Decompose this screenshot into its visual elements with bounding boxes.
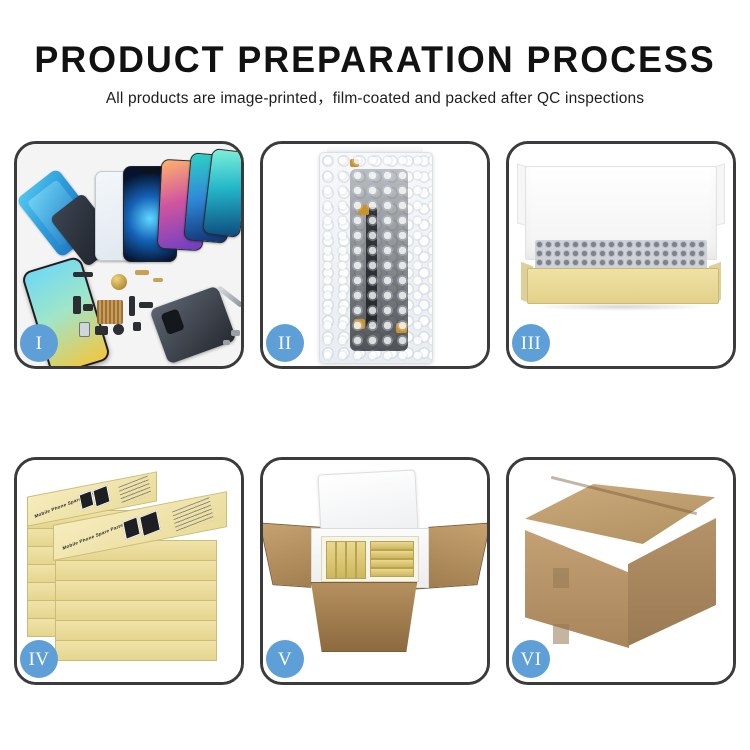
spare-part-icon — [223, 340, 230, 345]
box-tray-icon — [527, 268, 719, 304]
connector-icon — [358, 205, 369, 215]
box-label-text: Mobile Phone Spare Parts — [62, 523, 123, 551]
spare-part-icon — [73, 272, 93, 277]
flex-cable-icon — [366, 207, 377, 327]
process-infographic: PRODUCT PREPARATION PROCESS All products… — [0, 0, 750, 750]
label-screen-icon — [92, 485, 110, 508]
step-badge-4: IV — [20, 640, 58, 678]
label-screen-icon — [122, 516, 140, 540]
foam-padding-icon — [535, 240, 707, 270]
process-step-4: Mobile Phone Spare Parts — [14, 457, 244, 685]
drop-shadow-icon — [533, 304, 711, 311]
process-step-3: III — [506, 141, 736, 369]
foam-case-lid-icon — [317, 469, 418, 536]
carton-tape-icon — [553, 568, 569, 588]
step-badge-2: II — [266, 324, 304, 362]
stacked-box-icon — [55, 600, 217, 621]
spare-part-icon — [73, 296, 81, 314]
connector-icon — [396, 323, 407, 333]
label-text-lines-icon — [118, 475, 151, 505]
stacked-box-icon — [55, 620, 217, 641]
spare-part-icon — [79, 322, 90, 337]
label-screen-icon — [139, 510, 161, 537]
carton-left-face-icon — [525, 530, 629, 648]
packed-box-icon — [356, 541, 366, 579]
bubble-wrap-bag-icon — [319, 152, 433, 364]
process-step-2: II — [260, 141, 490, 369]
chip-array-icon — [97, 300, 123, 324]
phone-backplate-icon — [149, 285, 236, 364]
connector-icon — [350, 159, 359, 167]
spare-part-icon — [129, 296, 135, 316]
spare-part-icon — [231, 330, 240, 336]
step-badge-6: VI — [512, 640, 550, 678]
packed-box-icon — [336, 541, 346, 579]
carton-front-icon — [311, 582, 417, 652]
packed-box-icon — [326, 541, 336, 579]
stacked-box-icon — [55, 580, 217, 601]
spare-part-icon — [113, 324, 124, 335]
process-step-6: VI — [506, 457, 736, 685]
process-step-1: I — [14, 141, 244, 369]
packed-box-icon — [370, 541, 414, 550]
connector-icon — [354, 319, 365, 329]
stacked-box-icon — [55, 560, 217, 581]
packed-box-icon — [370, 550, 414, 559]
spare-part-icon — [95, 326, 108, 335]
spare-part-icon — [139, 302, 153, 308]
step-badge-3: III — [512, 324, 550, 362]
step-badge-1: I — [20, 324, 58, 362]
spare-part-icon — [153, 278, 163, 282]
foam-case-interior-icon — [321, 536, 419, 582]
spare-part-icon — [83, 304, 93, 311]
speaker-module-icon — [111, 274, 127, 290]
packed-box-icon — [370, 568, 414, 577]
spare-part-icon — [135, 270, 149, 275]
page-title: PRODUCT PREPARATION PROCESS — [11, 38, 739, 82]
stacked-box-icon — [55, 640, 217, 661]
packed-box-icon — [346, 541, 356, 579]
step-badge-5: V — [266, 640, 304, 678]
page-subtitle: All products are image-printed，film-coat… — [0, 89, 750, 109]
label-text-lines-icon — [172, 497, 214, 534]
box-stack-icon: Mobile Phone Spare Parts — [25, 476, 239, 672]
header: PRODUCT PREPARATION PROCESS All products… — [0, 0, 750, 109]
process-step-grid: I II — [14, 141, 736, 689]
spare-part-icon — [133, 322, 141, 331]
process-step-5: V — [260, 457, 490, 685]
carton-tape-icon — [553, 624, 569, 644]
packed-box-icon — [370, 559, 414, 568]
